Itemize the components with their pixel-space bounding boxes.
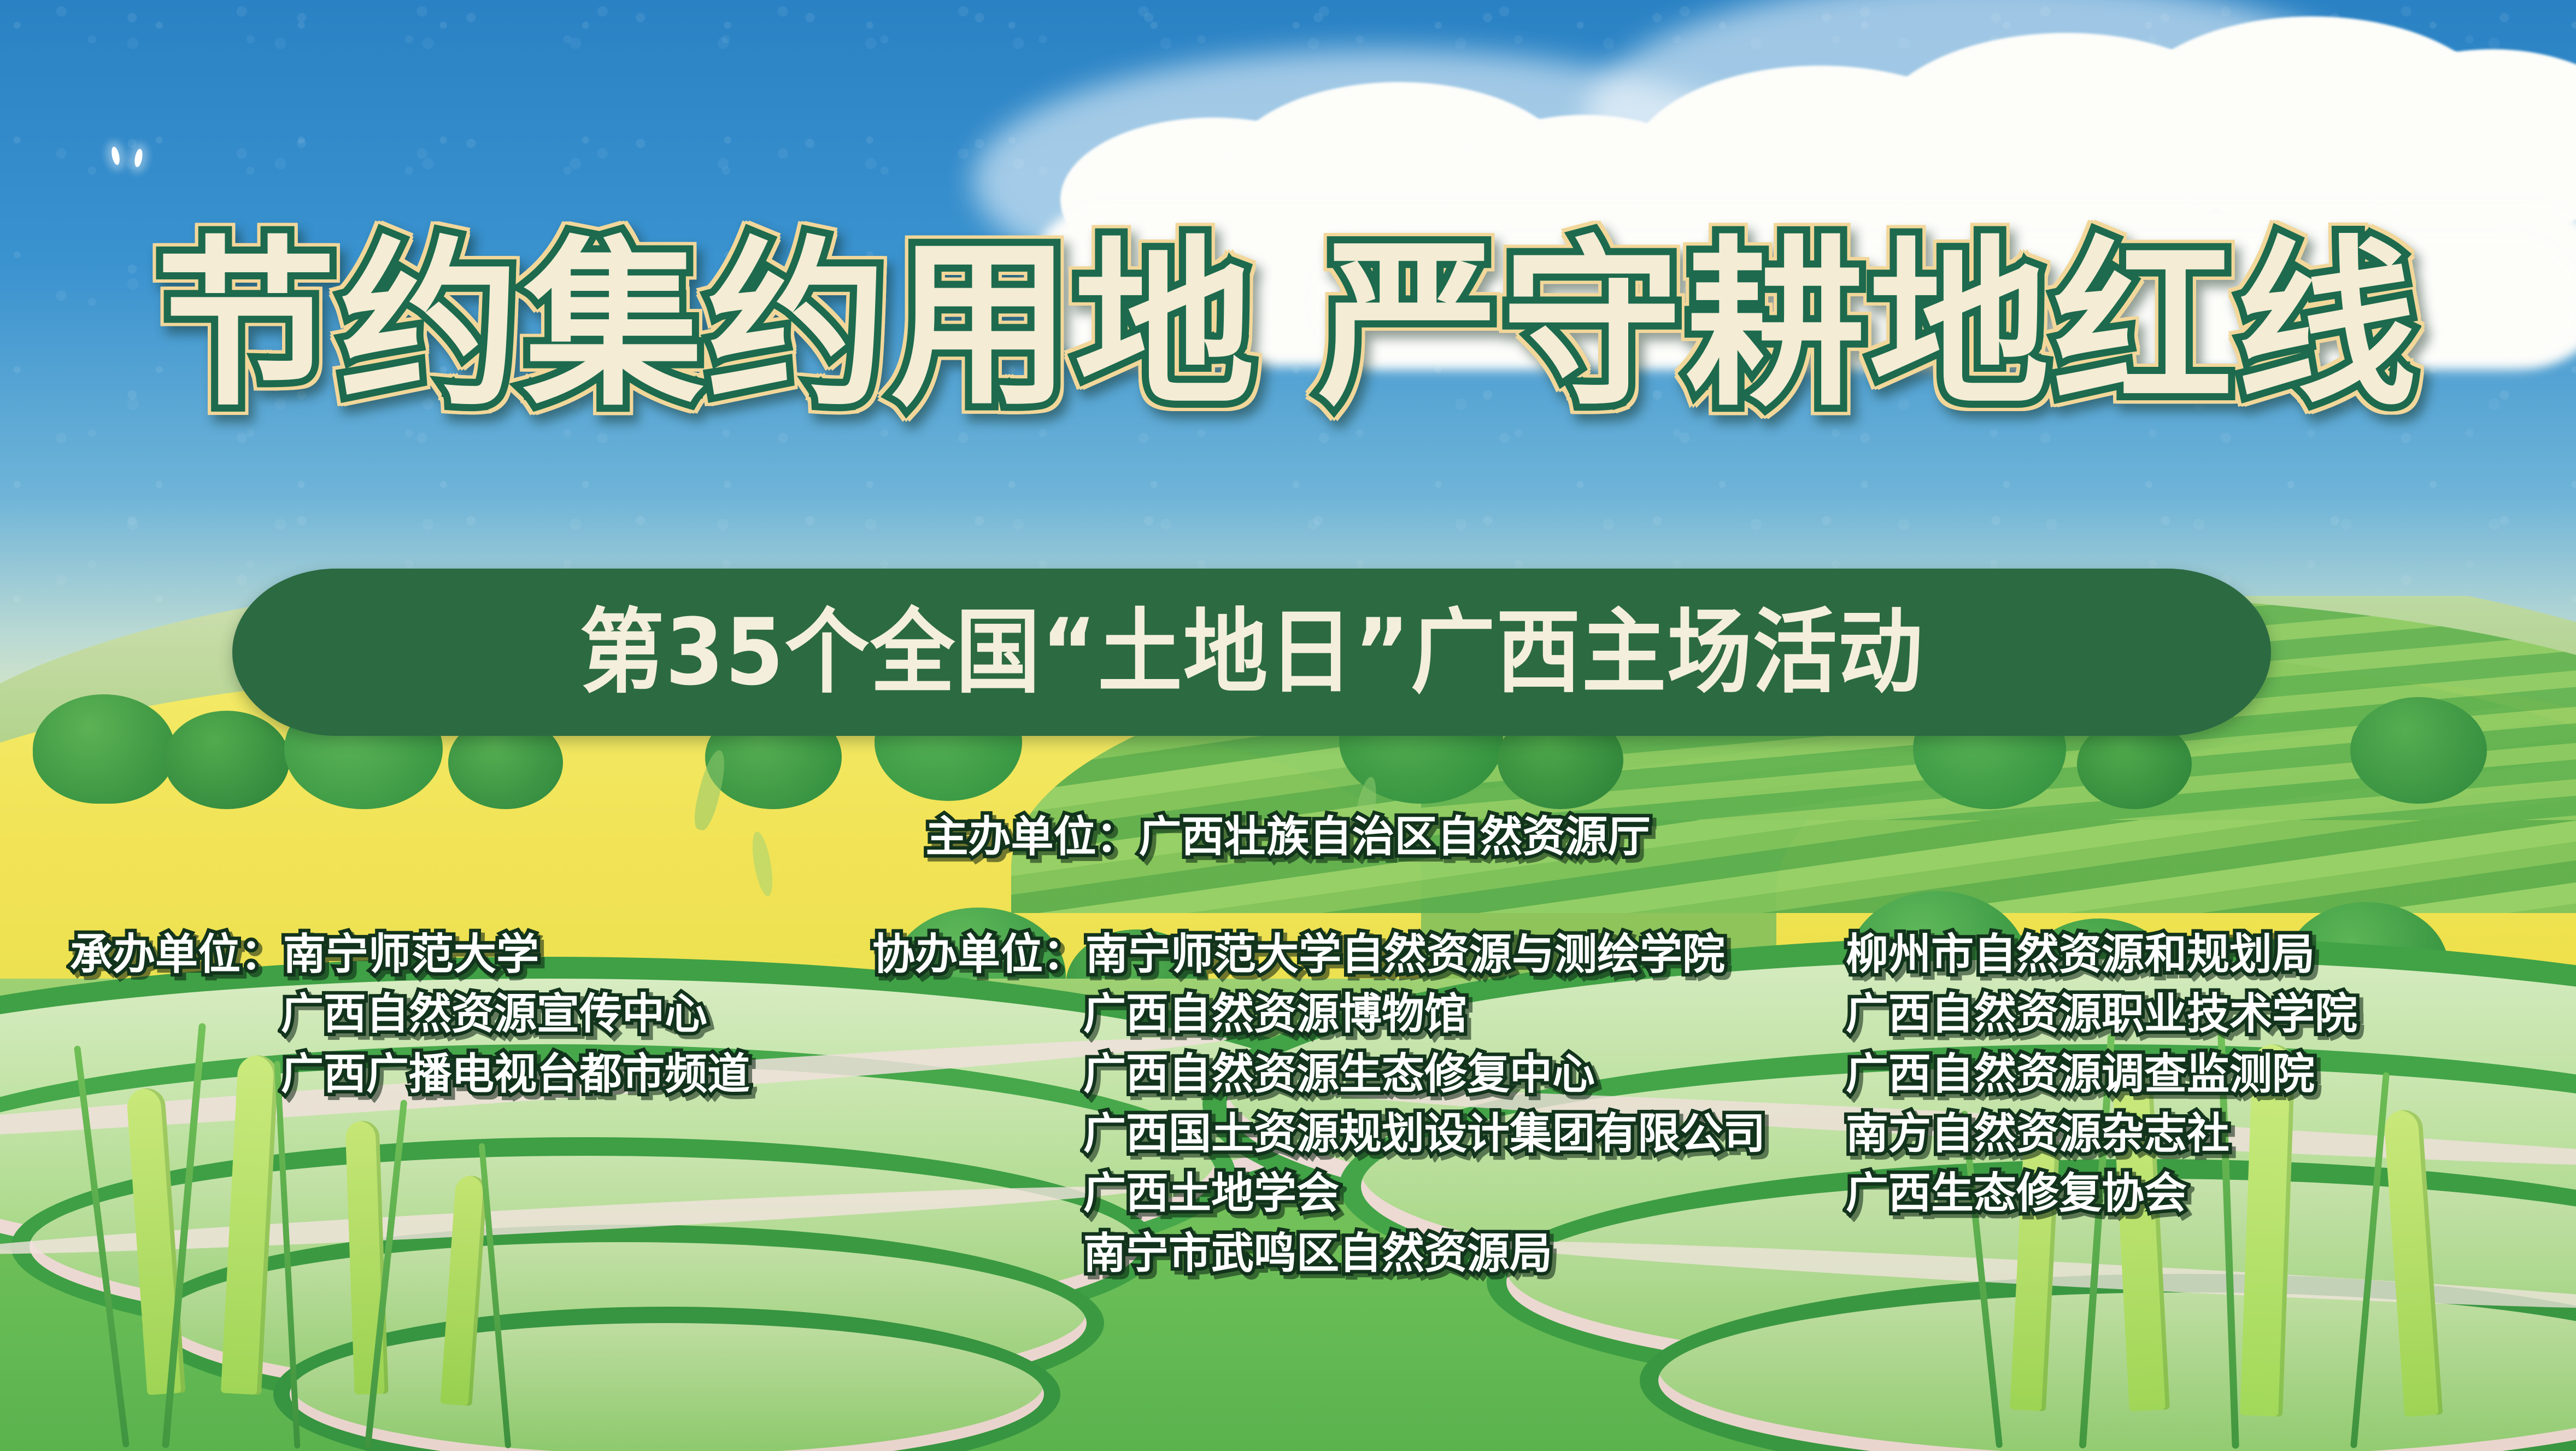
subtitle-banner: 第35个全国“土地日”广西主场活动 <box>232 569 2271 736</box>
headline-part-2: 严守耕地红线 <box>1318 220 2420 430</box>
birds-group <box>112 147 156 168</box>
co-organizer-item: 广西自然资源博物馆 <box>872 991 1765 1038</box>
co-organizer-item: 协办单位：南宁师范大学自然资源与测绘学院 <box>872 931 1765 979</box>
co-organizer-item: 广西国土资源规划设计集团有限公司 <box>872 1110 1765 1158</box>
poster-headline: 节约集约用地严守耕地红线 <box>0 235 2576 416</box>
co-organizer-item: 广西自然资源调查监测院 <box>1846 1051 2357 1098</box>
co-organizer-item: 广西自然资源生态修复中心 <box>872 1051 1765 1098</box>
organizer-column-left: 承办单位：南宁师范大学 广西自然资源宣传中心 广西广播电视台都市频道 <box>70 931 750 1110</box>
organizer-item: 承办单位：南宁师范大学 <box>70 931 750 979</box>
organizer-item: 广西广播电视台都市频道 <box>70 1051 750 1098</box>
subtitle-text: 第35个全国“土地日”广西主场活动 <box>314 569 2190 736</box>
host-organization-line: 主办单位：广西壮族自治区自然资源厅 <box>0 814 2576 861</box>
poster-canvas: 节约集约用地严守耕地红线 第35个全国“土地日”广西主场活动 主办单位：广西壮族… <box>0 0 2576 1451</box>
co-organizer-item: 广西自然资源职业技术学院 <box>1846 991 2357 1038</box>
bird-icon <box>133 148 144 168</box>
co-organizer-item: 南方自然资源杂志社 <box>1846 1110 2357 1158</box>
co-organizer-item: 南宁市武鸣区自然资源局 <box>872 1230 1765 1278</box>
co-organizer-item: 广西土地学会 <box>872 1170 1765 1218</box>
co-organizer-item: 柳州市自然资源和规划局 <box>1846 931 2357 979</box>
co-organizer-column-middle: 协办单位：南宁师范大学自然资源与测绘学院 广西自然资源博物馆 广西自然资源生态修… <box>872 931 1765 1290</box>
co-organizer-item: 广西生态修复协会 <box>1846 1170 2357 1218</box>
headline-part-1: 节约集约用地 <box>156 220 1258 430</box>
organizer-item: 广西自然资源宣传中心 <box>70 991 750 1038</box>
bird-icon <box>110 146 121 166</box>
co-organizer-column-right: 柳州市自然资源和规划局 广西自然资源职业技术学院 广西自然资源调查监测院 南方自… <box>1846 931 2357 1230</box>
